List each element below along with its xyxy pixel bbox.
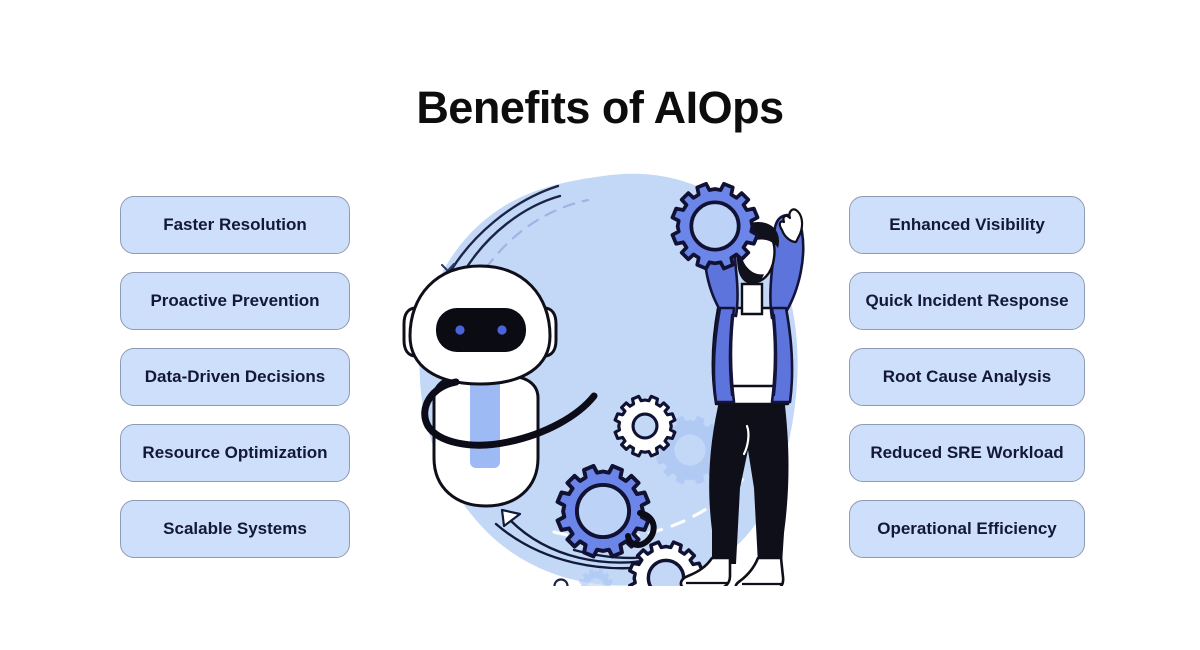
robot-eye-right <box>497 325 506 334</box>
robot-body-stripe <box>470 376 500 468</box>
gear-lifted-blue <box>672 184 757 269</box>
benefit-pill-enhanced-visibility[interactable]: Enhanced Visibility <box>849 196 1085 254</box>
benefit-pill-data-driven-decisions[interactable]: Data-Driven Decisions <box>120 348 350 406</box>
benefits-column-left: Faster Resolution Proactive Prevention D… <box>120 196 350 558</box>
benefit-pill-proactive-prevention[interactable]: Proactive Prevention <box>120 272 350 330</box>
person-neck <box>742 284 762 314</box>
robot-eye-left <box>455 325 464 334</box>
robot-visor <box>436 308 526 352</box>
benefit-pill-reduced-sre-workload[interactable]: Reduced SRE Workload <box>849 424 1085 482</box>
small-circle-decor <box>555 580 568 587</box>
gear-white-small <box>615 396 675 456</box>
benefit-pill-operational-efficiency[interactable]: Operational Efficiency <box>849 500 1085 558</box>
infographic-page: Benefits of AIOps Faster Resolution Proa… <box>0 0 1200 650</box>
page-title: Benefits of AIOps <box>0 82 1200 134</box>
aiops-illustration <box>398 158 822 586</box>
benefit-pill-root-cause-analysis[interactable]: Root Cause Analysis <box>849 348 1085 406</box>
benefit-pill-faster-resolution[interactable]: Faster Resolution <box>120 196 350 254</box>
benefits-column-right: Enhanced Visibility Quick Incident Respo… <box>849 196 1085 558</box>
benefit-pill-resource-optimization[interactable]: Resource Optimization <box>120 424 350 482</box>
benefit-pill-scalable-systems[interactable]: Scalable Systems <box>120 500 350 558</box>
benefit-pill-quick-incident-response[interactable]: Quick Incident Response <box>849 272 1085 330</box>
